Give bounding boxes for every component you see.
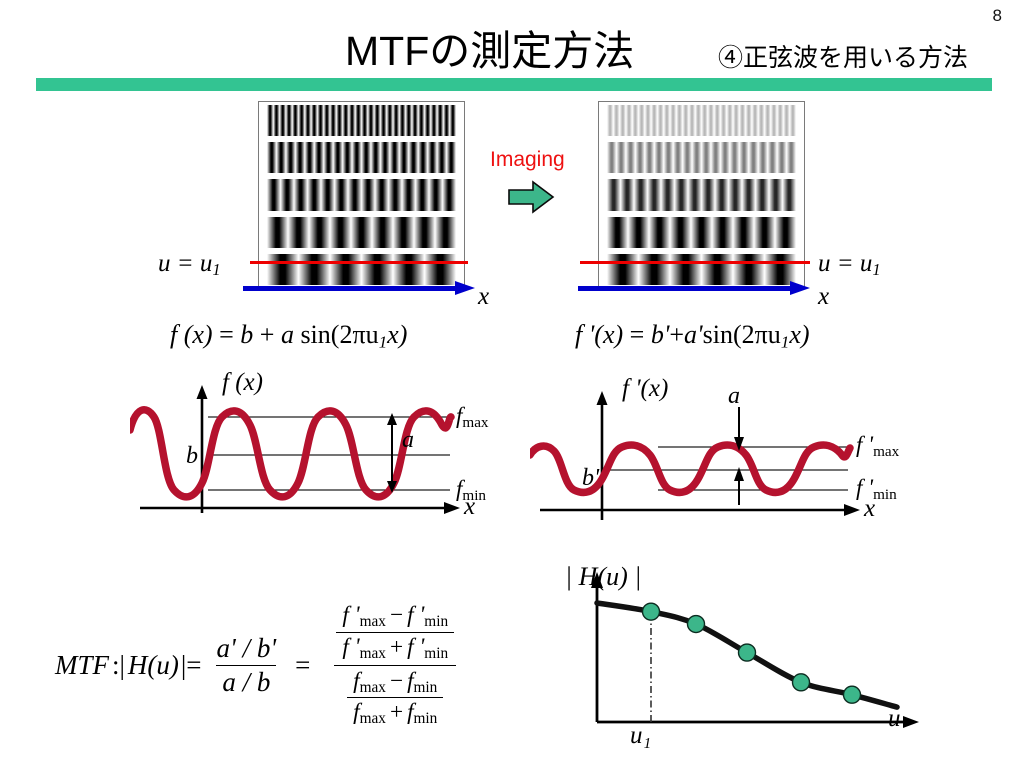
image-fmin-label-sub: min	[873, 486, 897, 503]
mtf-definition-formula: MTF :| H(u) |= a' / b' a / b = f 'max−f …	[55, 600, 474, 730]
image-fmax-label-sub: max	[873, 443, 899, 460]
mtf-object-contrast-num: fmax−fmin	[347, 667, 443, 698]
image-panel-x-label: x	[818, 283, 829, 311]
image-grating-band-3	[607, 179, 796, 210]
page-subtitle: ④正弦波を用いる方法	[718, 38, 968, 74]
object-frequency-label-text: u = u	[158, 250, 212, 277]
image-fmax-label-text: f '	[856, 432, 873, 457]
mtf-big-fraction: f 'max−f 'min f 'max+f 'min fmax−fmin fm…	[323, 600, 467, 730]
object-waveform-plot: f (x) x b a fmax fmin	[130, 375, 510, 535]
object-formula-sub: 1	[379, 332, 388, 351]
mtf-image-contrast-fraction: f 'max−f 'min f 'max+f 'min	[336, 601, 454, 664]
imaging-arrow-icon	[507, 180, 555, 214]
title-divider-bar	[36, 78, 992, 91]
mtf-fpmax-2: f '	[342, 634, 359, 660]
object-formula-lhs: f (x)	[170, 320, 213, 349]
image-grating-band-5	[607, 254, 796, 285]
image-formula-sin: sin(2πu	[703, 320, 781, 349]
image-grating-band-1	[607, 105, 796, 136]
object-x-axis-arrowhead	[455, 278, 477, 298]
image-wave-y-label: f '(x)	[622, 375, 668, 403]
mtf-fmin-2-sub: min	[414, 710, 438, 727]
object-amplitude-label: a	[402, 427, 414, 454]
object-frequency-label-sub: 1	[212, 260, 220, 279]
page-number: 8	[993, 6, 1002, 26]
object-x-axis	[243, 286, 461, 291]
mtf-fpmax-1: f '	[342, 602, 359, 628]
mtf-equals: =	[295, 650, 310, 681]
object-panel-x-label: x	[478, 283, 489, 311]
mtf-fpmin-1-sub: min	[424, 613, 448, 630]
mtf-data-point-3	[739, 644, 756, 661]
mtf-prefix-bar-eq: |=	[181, 650, 202, 681]
mtf-big-denominator: fmax−fmin fmax+fmin	[334, 665, 456, 731]
mtf-curve-x-label: u	[888, 705, 901, 733]
mtf-plus-1: +	[390, 634, 403, 660]
image-formula-tail: x)	[789, 320, 809, 349]
image-formula-eq: =	[630, 320, 645, 349]
mtf-fpmax-1-sub: max	[360, 613, 386, 630]
image-formula: f '(x) = b'+a'sin(2πu1x)	[575, 320, 810, 352]
image-fmin-label-text: f '	[856, 475, 873, 500]
mtf-fpmin-2-sub: min	[424, 645, 448, 662]
image-grating-band-2	[607, 142, 796, 173]
object-fmin-label-sub: min	[462, 487, 486, 504]
object-grating-band-1	[267, 105, 456, 136]
mtf-fpmin-1: f '	[407, 602, 424, 628]
mtf-data-point-1	[643, 603, 660, 620]
mtf-fmax-2-sub: max	[360, 710, 386, 727]
mtf-prefix-mtf: MTF	[55, 650, 109, 681]
mtf-minus-1: −	[390, 602, 403, 628]
mtf-fpmin-2: f '	[407, 634, 424, 660]
mtf-fpmax-2-sub: max	[360, 645, 386, 662]
mtf-big-numerator: f 'max−f 'min f 'max+f 'min	[323, 600, 467, 665]
mtf-image-contrast-num: f 'max−f 'min	[336, 601, 454, 632]
image-frequency-label-sub: 1	[872, 260, 880, 279]
mtf-object-contrast-fraction: fmax−fmin fmax+fmin	[347, 667, 443, 730]
image-formula-plus: +	[669, 320, 684, 349]
object-grating-band-4	[267, 217, 456, 248]
object-formula: f (x) = b + a sin(2πu1x)	[170, 320, 407, 352]
mtf-data-point-2	[688, 616, 705, 633]
image-x-axis-arrowhead	[790, 278, 812, 298]
object-mean-label: b	[186, 443, 198, 470]
object-formula-plus: +	[260, 320, 275, 349]
image-x-axis	[578, 286, 796, 291]
object-fmax-label-sub: max	[462, 414, 488, 431]
imaging-label: Imaging	[490, 148, 565, 172]
object-grating-band-3	[267, 179, 456, 210]
mtf-curve-u1-tick-label: u₁	[630, 722, 651, 750]
mtf-plus-2: +	[390, 699, 403, 725]
mtf-fmin-1-sub: min	[414, 678, 438, 695]
mtf-minus-2: −	[390, 668, 403, 694]
mtf-object-contrast-den: fmax+fmin	[347, 697, 443, 729]
image-formula-lhs: f '(x)	[575, 320, 623, 349]
image-mean-label: b'	[582, 465, 599, 492]
image-formula-amp: a'	[684, 320, 703, 349]
object-wave-y-label: f (x)	[222, 369, 263, 397]
object-formula-amp: a	[281, 320, 294, 349]
mtf-prefix-colon: :|	[112, 650, 125, 681]
page-title: MTFの測定方法	[345, 17, 634, 77]
image-frequency-line	[580, 261, 810, 264]
mtf-ratio-denominator: a / b	[216, 665, 276, 699]
object-frequency-label: u = u1	[158, 250, 221, 280]
mtf-ratio-fraction: a' / b' a / b	[211, 632, 283, 699]
mtf-ratio-numerator: a' / b'	[211, 632, 283, 665]
object-grating-band-2	[267, 142, 456, 173]
image-formula-dc: b'	[651, 320, 670, 349]
image-frequency-label-text: u = u	[818, 250, 872, 277]
slide-root: 8 MTFの測定方法 ④正弦波を用いる方法 Imaging u = u1 u =…	[0, 0, 1024, 768]
mtf-fmax-1-sub: max	[360, 678, 386, 695]
image-grating-band-4	[607, 217, 796, 248]
image-frequency-label: u = u1	[818, 250, 881, 280]
object-fmax-label: fmax	[456, 403, 489, 432]
image-waveform-plot: f '(x) x b' a f 'max f 'min	[530, 375, 930, 535]
mtf-data-point-4	[793, 674, 810, 691]
image-amplitude-label: a	[728, 383, 740, 410]
mtf-prefix-h: H(u)	[128, 650, 179, 681]
object-formula-dc: b	[240, 320, 253, 349]
object-formula-eq: =	[219, 320, 234, 349]
object-frequency-line	[250, 261, 468, 264]
object-fmin-label: fmin	[456, 476, 486, 505]
image-sine-curve	[530, 445, 850, 492]
mtf-curve-y-label: | H(u) |	[565, 562, 641, 592]
mtf-data-point-5	[844, 686, 861, 703]
mtf-x-axis-arrowhead	[903, 716, 919, 728]
image-fmax-label: f 'max	[856, 432, 899, 461]
image-fmin-label: f 'min	[856, 475, 897, 504]
object-grating-band-5	[267, 254, 456, 285]
mtf-image-contrast-den: f 'max+f 'min	[336, 632, 454, 664]
object-formula-sin: sin(2πu	[300, 320, 378, 349]
object-formula-tail: x)	[387, 320, 407, 349]
